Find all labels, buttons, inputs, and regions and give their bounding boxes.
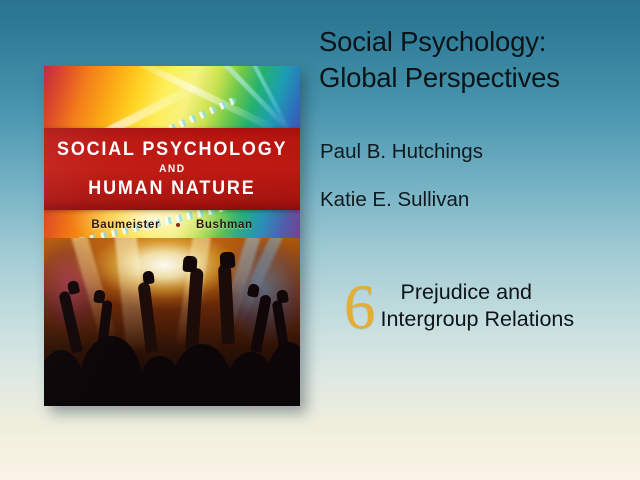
crowd-silhouette xyxy=(172,344,232,406)
cover-title-line2: AND xyxy=(159,161,185,177)
raised-hand xyxy=(142,270,155,284)
chapter-title-line-2: Intergroup Relations xyxy=(381,306,575,333)
raised-arm xyxy=(250,294,272,353)
title-line-2: Global Perspectives xyxy=(319,60,635,96)
concert-crowd-photo xyxy=(44,238,300,406)
raised-arm xyxy=(218,264,235,345)
raised-hand xyxy=(182,256,197,273)
raised-hand xyxy=(67,280,81,295)
cover-title-line1: SOCIAL PSYCHOLOGY xyxy=(57,138,287,161)
light-ray xyxy=(185,66,293,134)
author-hutchings: Paul B. Hutchings xyxy=(320,139,636,165)
cover-title-band: SOCIAL PSYCHOLOGY AND HUMAN NATURE xyxy=(44,128,300,210)
chapter-heading: 6 Prejudice and Intergroup Relations xyxy=(344,276,636,336)
author-list: Paul B. Hutchings Katie E. Sullivan xyxy=(320,139,636,213)
chapter-title: Prejudice and Intergroup Relations xyxy=(381,279,575,333)
cover-author-baumeister: Baumeister xyxy=(91,219,160,231)
page-title: Social Psychology: Global Perspectives xyxy=(319,24,635,96)
cover-authors: Baumeister Bushman xyxy=(44,209,300,241)
title-line-1: Social Psychology: xyxy=(319,24,635,60)
raised-hand xyxy=(93,289,106,303)
author-sullivan: Katie E. Sullivan xyxy=(320,187,636,213)
cover-title-line3: HUMAN NATURE xyxy=(88,177,255,200)
chapter-number: 6 xyxy=(344,278,376,336)
raised-hand xyxy=(276,289,289,304)
raised-hand xyxy=(220,252,236,269)
raised-arm xyxy=(58,290,83,353)
presentation-slide: SOCIAL PSYCHOLOGY AND HUMAN NATURE 4th E… xyxy=(0,0,640,480)
crowd-silhouette xyxy=(266,342,300,406)
cover-artwork: SOCIAL PSYCHOLOGY AND HUMAN NATURE 4th E… xyxy=(44,66,300,406)
crowd-silhouette xyxy=(44,350,84,406)
cover-author-bushman: Bushman xyxy=(196,219,253,231)
separator-dot-icon xyxy=(176,223,180,227)
book-cover-image: SOCIAL PSYCHOLOGY AND HUMAN NATURE 4th E… xyxy=(44,66,300,406)
raised-hand xyxy=(247,283,260,298)
chapter-title-line-1: Prejudice and xyxy=(381,279,575,306)
